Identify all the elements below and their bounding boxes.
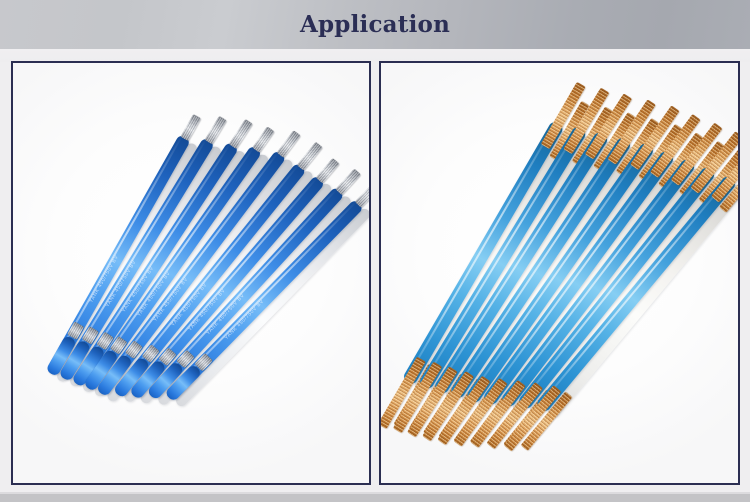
tinned-conductor-tip: [335, 169, 361, 196]
tinned-conductor-tip: [228, 118, 252, 148]
tinned-conductor-tip: [354, 180, 369, 208]
application-image-left[interactable]: YANK 450/750V BVYANK 450/750V BVYANK 450…: [11, 61, 371, 485]
tinned-conductor-tip: [180, 113, 201, 140]
application-section: Application YANK 450/750V BVYANK 450/750…: [0, 0, 750, 502]
tinned-conductor-tip: [204, 116, 227, 145]
tinned-conductor-tip: [276, 130, 300, 158]
application-image-right[interactable]: [379, 61, 740, 485]
bottom-strip: [0, 494, 750, 502]
tinned-conductor-tip: [252, 126, 275, 153]
tinned-conductor-tip: [296, 141, 322, 170]
wire-photo-copper-ends: [381, 63, 738, 483]
wire-photo-tinned-tips: YANK 450/750V BVYANK 450/750V BVYANK 450…: [13, 63, 369, 483]
tinned-conductor-tip: [316, 157, 340, 183]
page-title: Application: [0, 0, 750, 49]
